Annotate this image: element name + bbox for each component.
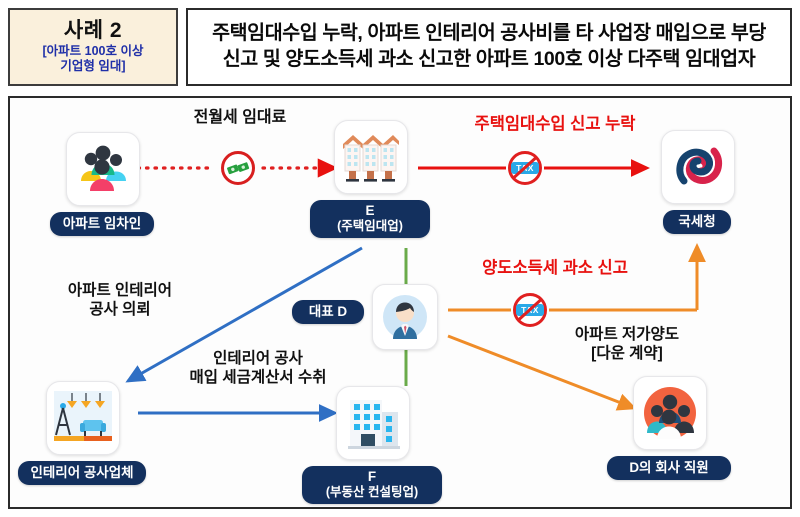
people-group-icon	[66, 132, 140, 206]
case-subtitle-line-1: [아파트 100호 이상	[43, 44, 144, 59]
interior-design-icon	[46, 381, 120, 455]
node-tenant[interactable]: 아파트 임차인	[66, 132, 154, 236]
node-nts-label: 국세청	[663, 210, 731, 234]
node-consulting-f[interactable]: F (부동산 컨설팅업)	[336, 386, 442, 504]
flow-label-tax-invoice: 인테리어 공사 매입 세금계산서 수취	[158, 350, 358, 388]
flow-label-tax-invoice-line-2: 매입 세금계산서 수취	[158, 369, 358, 388]
node-tenant-label: 아파트 임차인	[50, 212, 154, 236]
header: 사례 2 [아파트 100호 이상 기업형 임대] 주택임대수입 누락, 아파트…	[8, 8, 792, 86]
node-consulting-f-sublabel: (부동산 컨설팅업)	[312, 485, 432, 500]
case-title-box: 주택임대수입 누락, 아파트 인테리어 공사비를 타 사업장 매입으로 부당 신…	[186, 8, 792, 86]
flow-label-low-price-transfer-line-2: [다운 계약]	[532, 345, 722, 364]
employees-group-icon	[633, 376, 707, 450]
case-title-line-1: 주택임대수입 누락, 아파트 인테리어 공사비를 타 사업장 매입으로 부당	[212, 21, 766, 47]
node-interior-company-label: 인테리어 공사업체	[18, 461, 146, 485]
flow-label-rent-payment: 전월세 임대료	[170, 108, 310, 128]
node-employees-label: D의 회사 직원	[607, 456, 731, 480]
node-consulting-f-label: F	[368, 469, 376, 484]
diagram-frame: TAX TAX 아파트 임차인	[8, 96, 792, 509]
case-number-label: 사례 2	[64, 20, 122, 42]
tax-prohibited-icon-top: TAX	[508, 151, 542, 185]
node-national-tax-service[interactable]: 국세청	[661, 130, 735, 234]
case-diagram-page: 사례 2 [아파트 100호 이상 기업형 임대] 주택임대수입 누락, 아파트…	[0, 0, 800, 517]
case-title-line-2: 신고 및 양도소득세 과소 신고한 아파트 100호 이상 다주택 임대업자	[223, 47, 756, 73]
flow-label-capital-gains-underreport: 양도소득세 과소 신고	[442, 258, 668, 278]
flow-label-interior-request-line-2: 공사 의뢰	[30, 301, 210, 320]
flow-label-interior-request-line-1: 아파트 인테리어	[30, 282, 210, 301]
node-representative-d[interactable]: 대표 D	[372, 284, 438, 350]
node-lessor-e-label: E	[365, 203, 374, 218]
office-building-icon	[336, 386, 410, 460]
apartment-buildings-icon	[334, 120, 408, 194]
businessman-avatar-icon	[372, 284, 438, 350]
case-number-box: 사례 2 [아파트 100호 이상 기업형 임대]	[8, 8, 178, 86]
node-lessor-e[interactable]: E (주택임대업)	[334, 120, 430, 238]
flow-label-rental-income-omission: 주택임대수입 신고 누락	[435, 114, 675, 134]
flow-label-low-price-transfer: 아파트 저가양도 [다운 계약]	[532, 326, 722, 364]
case-subtitle: [아파트 100호 이상 기업형 임대]	[43, 44, 144, 74]
node-representative-d-label: 대표 D	[292, 300, 364, 324]
node-d-company-employees[interactable]: D의 회사 직원	[633, 376, 731, 480]
flow-label-interior-request: 아파트 인테리어 공사 의뢰	[30, 282, 210, 320]
flow-label-tax-invoice-line-1: 인테리어 공사	[158, 350, 358, 369]
tax-prohibited-icon-mid: TAX	[513, 293, 547, 327]
cash-bills-icon	[221, 151, 255, 185]
node-lessor-e-sublabel: (주택임대업)	[320, 219, 420, 234]
case-subtitle-line-2: 기업형 임대]	[43, 59, 144, 74]
taegeuk-government-icon	[661, 130, 735, 204]
flow-label-low-price-transfer-line-1: 아파트 저가양도	[532, 326, 722, 345]
node-lessor-e-badge: E (주택임대업)	[310, 200, 430, 238]
node-consulting-f-badge: F (부동산 컨설팅업)	[302, 466, 442, 504]
node-interior-company[interactable]: 인테리어 공사업체	[46, 381, 146, 485]
